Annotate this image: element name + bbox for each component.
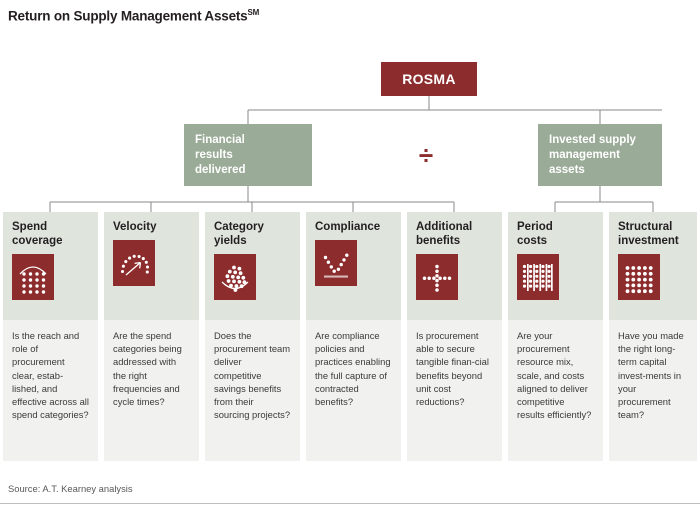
dotted-checkmark-icon [315, 240, 357, 286]
metric-card-structural-investment: Structural investment Have you made the … [609, 212, 697, 461]
division-operator-icon: ÷ [408, 140, 444, 170]
metric-card-title: Spend coverage [12, 220, 89, 248]
metric-card-title: Category yields [214, 220, 291, 248]
metric-card-question: Is the reach and role of procurement cle… [3, 320, 98, 461]
metric-card-header: Compliance [306, 212, 401, 320]
dotted-plus-icon [416, 254, 458, 300]
metric-card-title: Compliance [315, 220, 392, 234]
metric-card-compliance: Compliance Are compliance policies and p… [306, 212, 401, 461]
metric-card-header: Period costs [508, 212, 603, 320]
metric-card-title: Period costs [517, 220, 594, 248]
metric-card-spend-coverage: Spend coverage Is the reach and role of … [3, 212, 98, 461]
metric-card-question: Are compliance policies and practices en… [306, 320, 401, 461]
branch-invested-supply-management-assets: Invested supply management assets [538, 124, 662, 186]
metric-card-velocity: Velocity Are the spend categories being … [104, 212, 199, 461]
metric-card-question: Have you made the right long-term capita… [609, 320, 697, 461]
dot-columns-icon [517, 254, 559, 300]
metric-card-title: Additional benefits [416, 220, 493, 248]
source-note: Source: A.T. Kearney analysis [8, 483, 133, 494]
speedometer-arrow-icon [113, 240, 155, 286]
metric-card-title: Structural investment [618, 220, 688, 248]
dot-cluster-bowl-icon [214, 254, 256, 300]
dot-matrix-icon [618, 254, 660, 300]
metric-card-question: Is procurement able to secure tangible f… [407, 320, 502, 461]
metric-card-period-costs: Period costs [508, 212, 603, 461]
dot-grid-dome-icon [12, 254, 54, 300]
metric-card-header: Spend coverage [3, 212, 98, 320]
metric-card-header: Category yields [205, 212, 300, 320]
metric-card-question: Does the procurement team deliver compet… [205, 320, 300, 461]
rosma-root-node: ROSMA [381, 62, 477, 96]
branch-label: Invested supply management assets [549, 133, 651, 178]
footer-divider [0, 503, 700, 504]
branch-financial-results-delivered: Financial results delivered [184, 124, 312, 186]
branch-label: Financial results delivered [195, 133, 301, 178]
metric-card-additional-benefits: Additional benefits Is procurement able … [407, 212, 502, 461]
rosma-label: ROSMA [402, 71, 456, 87]
metric-card-question: Are the spend categories being addressed… [104, 320, 199, 461]
metric-card-title: Velocity [113, 220, 190, 234]
metric-card-header: Structural investment [609, 212, 697, 320]
metric-card-category-yields: Category yields Does the procurement tea… [205, 212, 300, 461]
metric-card-question: Are your procurement resource mix, scale… [508, 320, 603, 461]
metric-card-header: Velocity [104, 212, 199, 320]
metric-card-header: Additional benefits [407, 212, 502, 320]
rosma-diagram: ROSMA Financial results delivered ÷ Inve… [0, 0, 700, 470]
